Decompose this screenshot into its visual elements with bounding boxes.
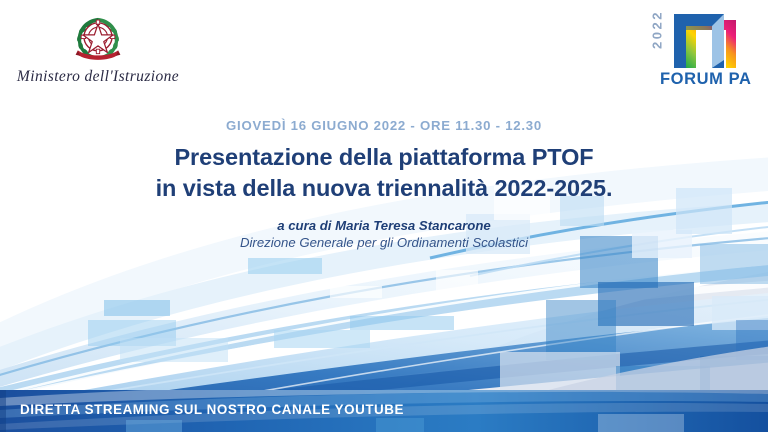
headline-line-2: in vista della nuova triennalità 2022-20…: [0, 173, 768, 204]
italian-republic-emblem-icon: [70, 10, 126, 66]
slide-content: GIOVEDÌ 16 GIUGNO 2022 - ORE 11.30 - 12.…: [0, 118, 768, 250]
streaming-label: DIRETTA STREAMING SUL NOSTRO CANALE YOUT…: [20, 402, 404, 417]
page-title: Presentazione della piattaforma PTOF in …: [0, 142, 768, 204]
presentation-slide: Ministero dell'Istruzione 2022: [0, 0, 768, 432]
forum-pa-wordmark: FORUM PA: [660, 70, 752, 89]
headline-line-1: Presentazione della piattaforma PTOF: [0, 142, 768, 173]
streaming-banner: DIRETTA STREAMING SUL NOSTRO CANALE YOUT…: [0, 390, 768, 432]
ministry-logo: Ministero dell'Istruzione: [8, 10, 188, 86]
forum-pa-year-label: 2022: [650, 6, 665, 54]
event-datetime: GIOVEDÌ 16 GIUGNO 2022 - ORE 11.30 - 12.…: [0, 118, 768, 133]
speaker-affiliation: Direzione Generale per gli Ordinamenti S…: [0, 235, 768, 250]
speaker-name: a cura di Maria Teresa Stancarone: [0, 218, 768, 233]
forum-pa-logo[interactable]: 2022 FORUM PA: [642, 8, 750, 96]
ministry-name-label: Ministero dell'Istruzione: [8, 68, 188, 86]
forum-pa-arch-mark-icon: [666, 10, 746, 68]
